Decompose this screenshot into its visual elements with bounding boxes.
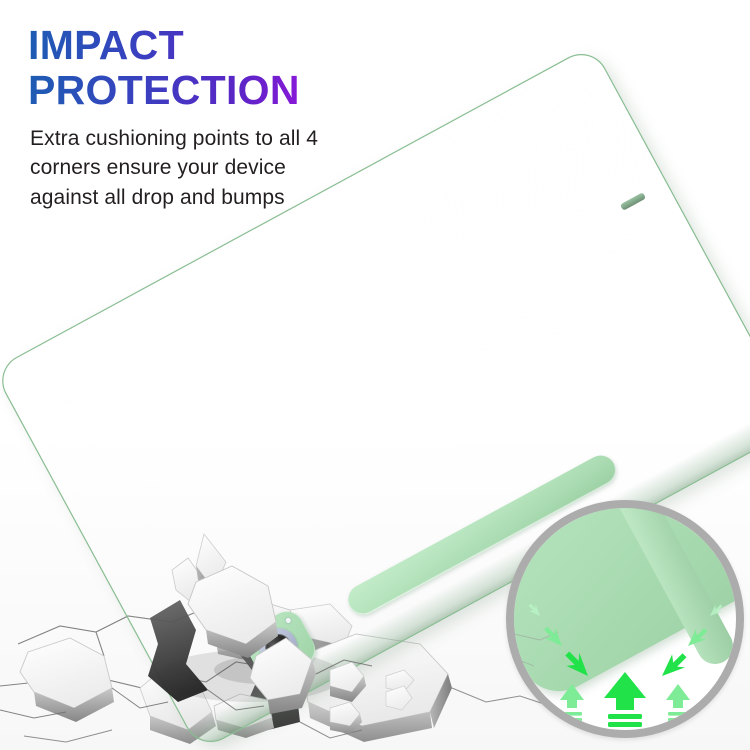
headline-line-1: IMPACT <box>28 24 368 67</box>
impact-arrow-left-near <box>561 647 596 682</box>
impact-arrow-left-mid <box>541 623 568 650</box>
foreground-shards <box>0 560 460 750</box>
impact-arrow-right-far <box>707 602 725 620</box>
body-copy: Extra cushioning points to all 4 corners… <box>30 124 330 212</box>
impact-arrow-bottom-left <box>560 684 584 722</box>
impact-arrows <box>514 508 736 730</box>
impact-arrow-left-far <box>526 601 544 619</box>
impact-arrow-right-mid <box>683 625 710 652</box>
impact-arrow-bottom-center <box>604 672 646 727</box>
impact-arrow-bottom-right <box>666 684 690 722</box>
headline-block: IMPACT PROTECTION <box>28 24 368 113</box>
impact-arrow-right-near <box>656 649 691 684</box>
headline-line-2: PROTECTION <box>28 69 368 112</box>
product-feature-banner: IMPACT PROTECTION Extra cushioning point… <box>0 0 750 750</box>
corner-detail-magnifier <box>506 500 744 738</box>
magnifier-content <box>514 508 736 730</box>
